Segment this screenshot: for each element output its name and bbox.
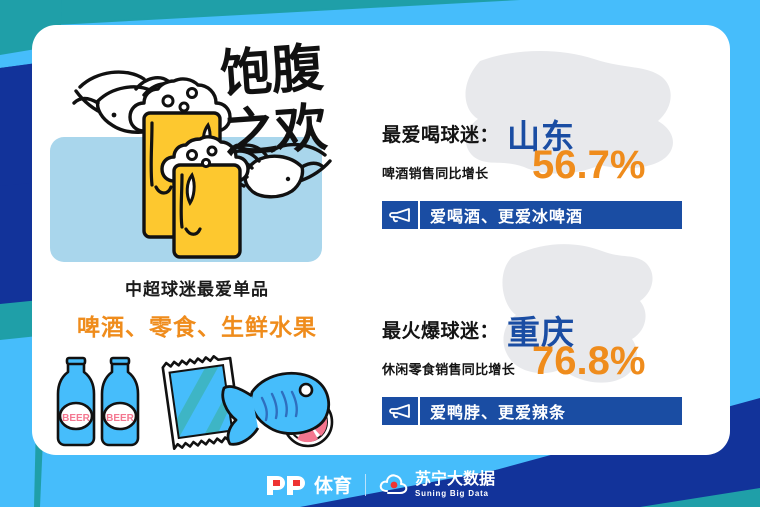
pp-sports-text: 体育	[314, 471, 352, 498]
right-column: 最爱喝球迷： 山东 啤酒销售同比增长 56.7% 爱喝酒、更爱冰啤酒	[362, 25, 730, 455]
beer-label-left: BEER	[62, 413, 91, 424]
product-title: 中超球迷最爱单品	[32, 275, 362, 300]
fish-fruit-icon	[223, 373, 332, 446]
stat-metric-row: 休闲零食销售同比增长 76.8%	[382, 347, 722, 387]
infographic-root: 饱腹 之欢 中超球迷最爱单品 啤酒、零食、生鲜水果 BEER	[0, 0, 760, 507]
suning-bigdata-en: Suning Big Data	[415, 490, 495, 498]
stat-label: 最火爆球迷：	[382, 316, 499, 343]
stat-sublabel: 休闲零食销售同比增长	[382, 359, 515, 378]
pp-sports-logo: 体育	[265, 471, 352, 498]
stat-block-chongqing: 最火爆球迷： 重庆 休闲零食销售同比增长 76.8% 爱鸭脖、更爱辣条	[382, 303, 722, 425]
suning-cloud-icon	[379, 473, 409, 497]
stat-percent: 76.8%	[532, 341, 645, 381]
suning-bigdata-cn: 苏宁大数据	[415, 472, 495, 488]
beer-bottles-icon: BEER BEER	[58, 358, 138, 445]
footer-logos: 体育 苏宁大数据 Suning Big Data	[0, 462, 760, 507]
stat-sublabel: 啤酒销售同比增长	[382, 163, 488, 182]
hero-illustration: 饱腹 之欢	[40, 27, 365, 267]
stat-block-shandong: 最爱喝球迷： 山东 啤酒销售同比增长 56.7% 爱喝酒、更爱冰啤酒	[382, 107, 722, 229]
stat-tagline-text: 爱鸭脖、更爱辣条	[418, 397, 682, 425]
footer-divider	[365, 474, 366, 496]
suning-bigdata-logo: 苏宁大数据 Suning Big Data	[379, 472, 495, 498]
main-card: 饱腹 之欢 中超球迷最爱单品 啤酒、零食、生鲜水果 BEER	[32, 25, 730, 455]
megaphone-icon	[382, 397, 418, 425]
hero-title-line2: 之欢	[222, 99, 329, 164]
stat-tagline-bar: 爱喝酒、更爱冰啤酒	[382, 201, 682, 229]
product-list: 啤酒、零食、生鲜水果	[32, 308, 362, 342]
left-column: 饱腹 之欢 中超球迷最爱单品 啤酒、零食、生鲜水果 BEER	[32, 25, 362, 455]
beer-label-right: BEER	[106, 413, 135, 424]
suning-text-group: 苏宁大数据 Suning Big Data	[415, 472, 495, 498]
product-icons-row: BEER BEER	[40, 350, 355, 450]
stat-tagline-bar: 爱鸭脖、更爱辣条	[382, 397, 682, 425]
stat-tagline-text: 爱喝酒、更爱冰啤酒	[418, 201, 682, 229]
pp-logo-icon	[265, 474, 309, 496]
stat-percent: 56.7%	[532, 145, 645, 185]
stat-label: 最爱喝球迷：	[382, 120, 499, 147]
stat-metric-row: 啤酒销售同比增长 56.7%	[382, 151, 722, 191]
megaphone-icon	[382, 201, 418, 229]
hero-title-line1: 饱腹	[218, 39, 326, 104]
